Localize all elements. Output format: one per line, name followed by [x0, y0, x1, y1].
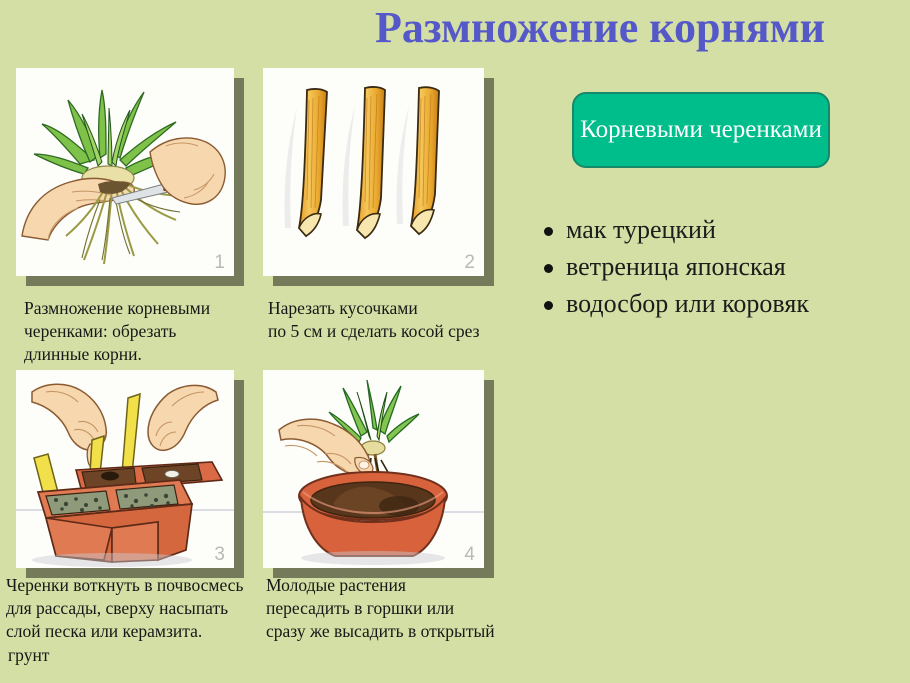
list-item-label: ветреница японская	[566, 252, 786, 281]
root-cuttings-icon	[263, 68, 484, 276]
photo-plate	[16, 370, 234, 568]
list-item: водосбор или коровяк	[538, 286, 908, 323]
list-item: мак турецкий	[538, 212, 908, 249]
list-item-label: мак турецкий	[566, 215, 716, 244]
step-3-illustration: 3	[16, 370, 234, 568]
step-4-illustration: 4	[263, 370, 484, 568]
step-1-illustration: 1	[16, 68, 234, 276]
list-item: ветреница японская	[538, 249, 908, 286]
callout-box: Корневыми черенками	[572, 92, 830, 168]
step-1-caption: Размножение корневыми черенками: обрезат…	[24, 297, 264, 366]
potting-seedling-icon	[263, 370, 484, 568]
list-item-label: водосбор или коровяк	[566, 289, 809, 318]
page-title: Размножение корнями	[300, 4, 900, 52]
step-2-illustration: 2	[263, 68, 484, 276]
photo-plate	[263, 68, 484, 276]
step-number: 4	[464, 544, 475, 566]
seed-tray-planting-icon	[16, 370, 234, 568]
callout-label: Корневыми черенками	[580, 115, 822, 146]
step-3-caption-tail: грунт	[8, 645, 49, 666]
photo-plate	[263, 370, 484, 568]
step-number: 3	[214, 544, 225, 566]
step-4-caption: Молодые растения пересадить в горшки или…	[266, 574, 526, 643]
photo-plate	[16, 68, 234, 276]
step-3-caption: Черенки воткнуть в почвосмесь для рассад…	[6, 574, 268, 643]
step-number: 1	[214, 252, 225, 274]
step-number: 2	[464, 252, 475, 274]
hands-cutting-roots-icon	[16, 68, 234, 276]
plant-list: мак турецкий ветреница японская водосбор…	[538, 212, 908, 323]
step-2-caption: Нарезать кусочками по 5 см и сделать кос…	[268, 297, 518, 343]
